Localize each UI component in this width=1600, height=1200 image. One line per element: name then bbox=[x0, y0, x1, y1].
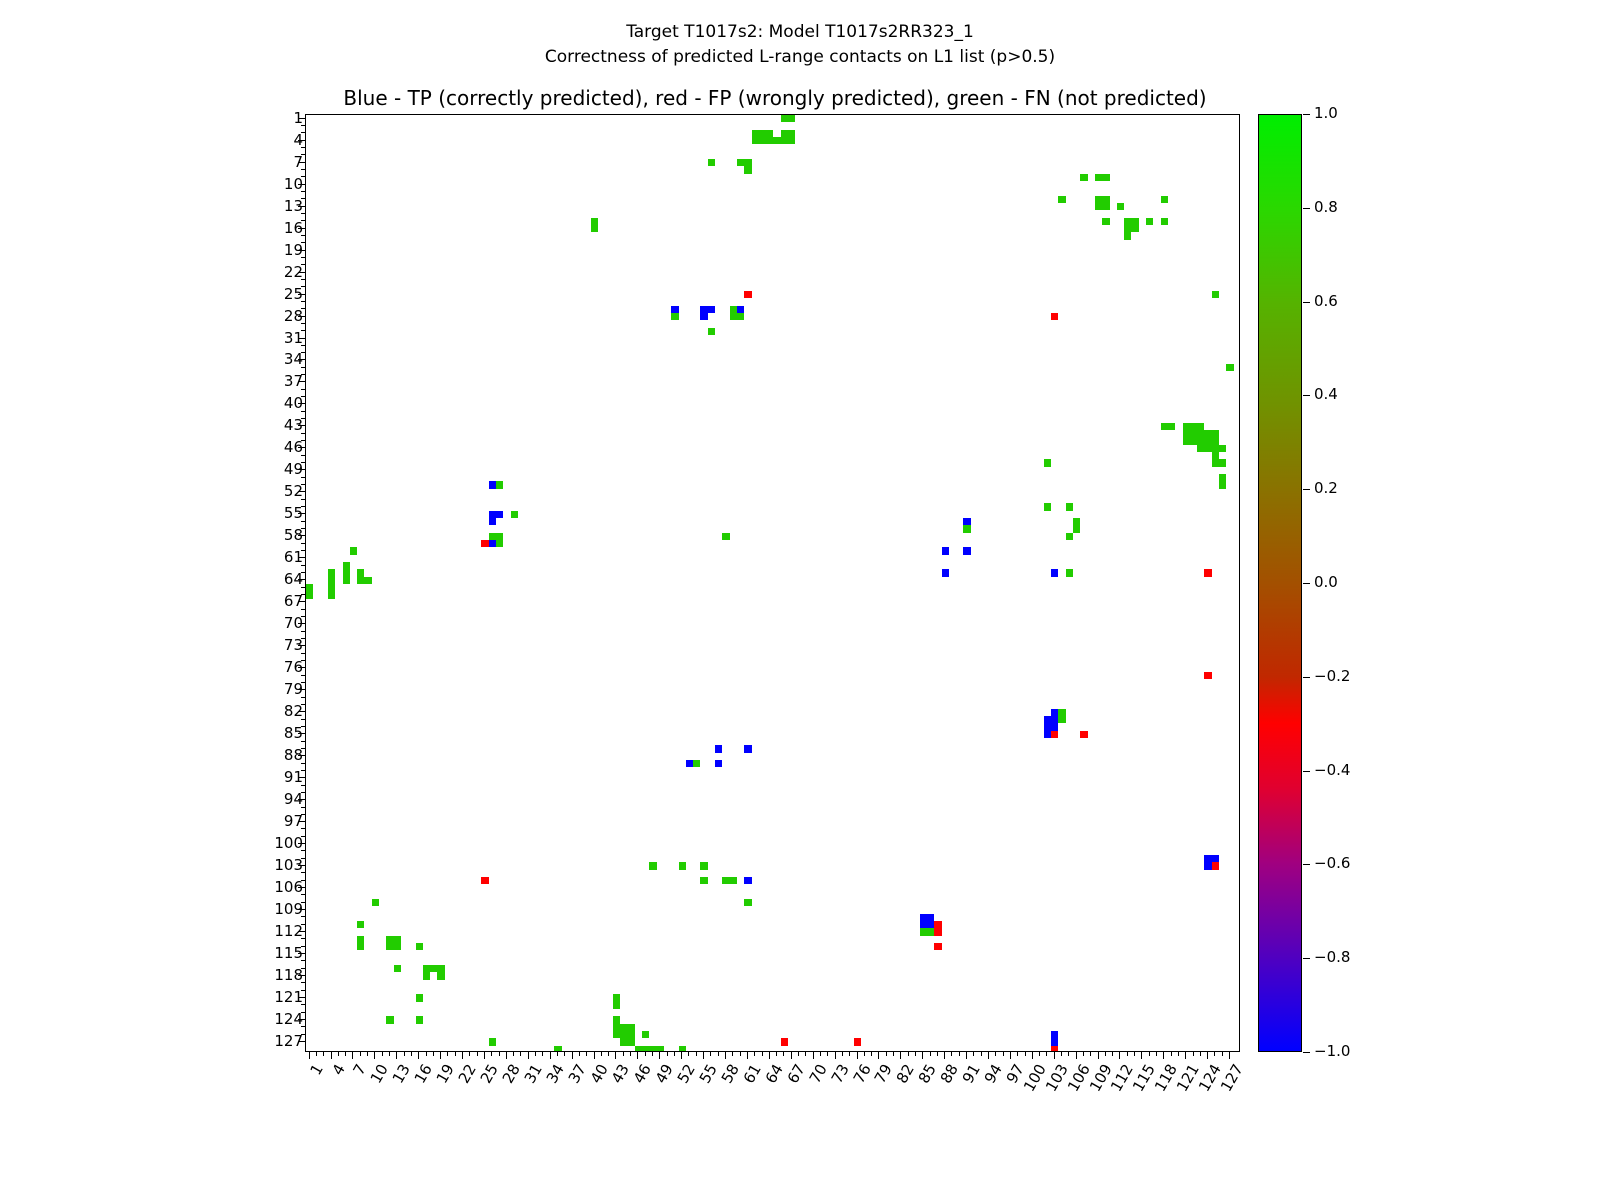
contact-cell-red bbox=[1051, 313, 1058, 320]
contact-cell-green bbox=[1183, 430, 1220, 445]
colorbar-tick-label: 0.2 bbox=[1314, 481, 1338, 496]
contact-cell-green bbox=[1161, 218, 1168, 225]
y-axis-label: 10 bbox=[284, 177, 303, 192]
y-axis-label: 79 bbox=[284, 682, 303, 697]
y-axis-label: 58 bbox=[284, 528, 303, 543]
x-axis-tick bbox=[1068, 1052, 1069, 1056]
x-axis-tick bbox=[893, 1052, 894, 1056]
x-axis-tick bbox=[1083, 1052, 1084, 1056]
x-axis-tick bbox=[937, 1052, 938, 1056]
colorbar-tick-label: 0.6 bbox=[1314, 294, 1338, 309]
contact-cell-green bbox=[1066, 569, 1073, 576]
colorbar-tick-label: −0.4 bbox=[1314, 763, 1350, 778]
y-axis-label: 1 bbox=[293, 111, 303, 126]
x-axis-tick bbox=[433, 1052, 434, 1056]
colorbar-tick-label: 0.4 bbox=[1314, 387, 1338, 402]
x-axis-tick bbox=[1003, 1052, 1004, 1056]
contact-cell-green bbox=[416, 994, 423, 1001]
contact-cell-green bbox=[1197, 445, 1212, 452]
contact-cell-green bbox=[394, 965, 401, 972]
x-axis-tick bbox=[338, 1052, 339, 1056]
contact-cell-green bbox=[306, 584, 313, 599]
x-axis-tick bbox=[1112, 1052, 1113, 1056]
x-axis-tick bbox=[1098, 1052, 1099, 1059]
x-axis-tick bbox=[411, 1052, 412, 1056]
x-axis-tick bbox=[396, 1052, 397, 1059]
contact-cell-green bbox=[1146, 218, 1153, 225]
contact-cell-green bbox=[1044, 459, 1051, 466]
x-axis-tick bbox=[594, 1052, 595, 1059]
x-axis-tick bbox=[557, 1052, 558, 1056]
x-axis-tick bbox=[1141, 1052, 1142, 1059]
x-axis-tick bbox=[995, 1052, 996, 1056]
colorbar-tick-label: 1.0 bbox=[1314, 106, 1338, 121]
x-axis-tick bbox=[426, 1052, 427, 1056]
contact-cell-green bbox=[920, 928, 935, 935]
contact-cell-blue bbox=[700, 313, 707, 320]
x-axis-tick bbox=[542, 1052, 543, 1056]
x-axis-tick bbox=[769, 1052, 770, 1059]
colorbar-tick bbox=[1303, 1052, 1310, 1053]
x-axis-tick bbox=[491, 1052, 492, 1056]
colorbar-tick-label: 0.8 bbox=[1314, 200, 1338, 215]
x-axis-tick bbox=[908, 1052, 909, 1056]
contact-cell-green bbox=[693, 760, 700, 767]
x-axis-tick bbox=[360, 1052, 361, 1056]
y-axis-label: 106 bbox=[274, 880, 303, 895]
contact-cell-green bbox=[708, 328, 715, 335]
contact-cell-green bbox=[1058, 709, 1065, 724]
contact-cell-red bbox=[1204, 672, 1211, 679]
y-axis-label: 112 bbox=[274, 924, 303, 939]
x-axis-tick bbox=[959, 1052, 960, 1056]
y-axis-label: 88 bbox=[284, 748, 303, 763]
contact-cell-green bbox=[649, 862, 656, 869]
x-axis-tick bbox=[1222, 1052, 1223, 1056]
contact-cell-green bbox=[496, 540, 503, 547]
colorbar-tick bbox=[1303, 583, 1310, 584]
y-axis-label: 4 bbox=[293, 133, 303, 148]
contact-cell-green bbox=[635, 1046, 642, 1052]
contact-cell-green bbox=[328, 569, 335, 584]
contact-cell-green bbox=[679, 862, 686, 869]
contact-cell-green bbox=[1212, 459, 1227, 466]
x-axis-tick bbox=[1025, 1052, 1026, 1056]
x-axis-tick bbox=[477, 1052, 478, 1056]
y-axis-label: 61 bbox=[284, 550, 303, 565]
x-axis-tick bbox=[513, 1052, 514, 1056]
contact-cell-green bbox=[700, 877, 707, 884]
contact-cell-blue bbox=[1044, 731, 1051, 738]
contact-cell-green bbox=[700, 862, 707, 869]
x-axis-tick bbox=[1134, 1052, 1135, 1056]
contact-cell-green bbox=[1066, 503, 1073, 510]
contact-cell-green bbox=[1044, 503, 1051, 510]
contact-cell-blue bbox=[715, 760, 722, 767]
x-axis-tick bbox=[915, 1052, 916, 1056]
y-axis-label: 34 bbox=[284, 352, 303, 367]
contact-cell-green bbox=[1161, 423, 1176, 430]
x-axis-tick bbox=[608, 1052, 609, 1056]
y-axis-label: 22 bbox=[284, 265, 303, 280]
x-axis-tick bbox=[499, 1052, 500, 1056]
x-axis-tick bbox=[688, 1052, 689, 1056]
y-axis-label: 43 bbox=[284, 418, 303, 433]
contact-cell-green bbox=[657, 1046, 664, 1052]
y-axis-label: 31 bbox=[284, 331, 303, 346]
x-axis-tick bbox=[951, 1052, 952, 1056]
contact-cell-green bbox=[1161, 196, 1168, 203]
x-axis-tick bbox=[345, 1052, 346, 1056]
x-axis-tick bbox=[367, 1052, 368, 1056]
x-axis-tick bbox=[550, 1052, 551, 1059]
contact-cell-green bbox=[1212, 291, 1219, 298]
x-axis-tick bbox=[1061, 1052, 1062, 1056]
x-axis-tick bbox=[930, 1052, 931, 1056]
contact-cell-green bbox=[386, 1016, 393, 1023]
contact-cell-green bbox=[679, 1046, 686, 1052]
y-axis-label: 13 bbox=[284, 199, 303, 214]
x-axis-tick bbox=[418, 1052, 419, 1059]
x-axis-tick bbox=[447, 1052, 448, 1056]
colorbar-tick-label: −1.0 bbox=[1314, 1044, 1350, 1059]
contact-cell-green bbox=[1226, 364, 1233, 371]
x-axis-tick bbox=[520, 1052, 521, 1056]
colorbar-tick bbox=[1303, 864, 1310, 865]
contact-cell-blue bbox=[1051, 569, 1058, 576]
x-axis-tick bbox=[535, 1052, 536, 1056]
x-axis-tick bbox=[374, 1052, 375, 1059]
contact-cell-green bbox=[357, 577, 372, 584]
contact-cell-green bbox=[613, 1016, 620, 1023]
colorbar-tick bbox=[1303, 489, 1310, 490]
contact-cell-green bbox=[642, 1031, 649, 1038]
y-axis-label: 94 bbox=[284, 792, 303, 807]
x-axis-tick bbox=[1229, 1052, 1230, 1059]
x-axis-tick bbox=[776, 1052, 777, 1056]
contact-cell-green bbox=[1212, 452, 1219, 459]
contact-cell-blue bbox=[489, 540, 496, 547]
x-axis-tick bbox=[659, 1052, 660, 1059]
x-axis-tick bbox=[1119, 1052, 1120, 1059]
figure-title-line-2: Correctness of predicted L-range contact… bbox=[0, 45, 1600, 70]
x-axis-tick bbox=[389, 1052, 390, 1056]
x-axis-tick bbox=[710, 1052, 711, 1056]
contact-cell-green bbox=[737, 159, 752, 166]
contact-cell-green bbox=[744, 899, 751, 906]
contact-cell-green bbox=[1117, 203, 1124, 210]
x-axis-tick bbox=[922, 1052, 923, 1059]
contact-cell-green bbox=[1183, 423, 1205, 430]
contact-cell-red bbox=[481, 877, 488, 884]
y-axis-label: 109 bbox=[274, 902, 303, 917]
contact-cell-green bbox=[372, 899, 379, 906]
contact-cell-green bbox=[1124, 232, 1131, 239]
x-axis-tick bbox=[681, 1052, 682, 1059]
x-axis-tick bbox=[1054, 1052, 1055, 1059]
x-axis-tick bbox=[469, 1052, 470, 1056]
y-axis-label: 85 bbox=[284, 726, 303, 741]
colorbar-tick bbox=[1303, 395, 1310, 396]
y-axis-label: 118 bbox=[274, 968, 303, 983]
contact-cell-green bbox=[416, 1016, 423, 1023]
y-axis-label: 7 bbox=[293, 155, 303, 170]
x-axis-tick bbox=[630, 1052, 631, 1056]
contact-map-plot[interactable] bbox=[305, 114, 1240, 1052]
x-axis-tick bbox=[637, 1052, 638, 1059]
x-axis-tick bbox=[864, 1052, 865, 1056]
x-axis-tick bbox=[484, 1052, 485, 1059]
colorbar-tick bbox=[1303, 302, 1310, 303]
x-axis-tick bbox=[1039, 1052, 1040, 1056]
colorbar-gradient bbox=[1258, 114, 1302, 1052]
x-axis-tick bbox=[981, 1052, 982, 1056]
colorbar-tick-label: −0.6 bbox=[1314, 856, 1350, 871]
y-axis-label: 82 bbox=[284, 704, 303, 719]
contact-cell-green bbox=[744, 166, 751, 173]
contact-cell-blue bbox=[920, 914, 935, 921]
x-axis-tick bbox=[404, 1052, 405, 1056]
x-axis-tick bbox=[791, 1052, 792, 1059]
contact-cell-green bbox=[708, 159, 715, 166]
contact-cell-green bbox=[752, 130, 774, 137]
x-axis-tick bbox=[674, 1052, 675, 1056]
x-axis-tick bbox=[528, 1052, 529, 1059]
contact-cell-green bbox=[489, 1038, 496, 1045]
contact-cell-blue bbox=[942, 547, 949, 554]
x-axis-tick bbox=[309, 1052, 310, 1059]
x-axis-tick bbox=[1076, 1052, 1077, 1059]
x-axis-tick bbox=[783, 1052, 784, 1056]
x-axis-tick bbox=[323, 1052, 324, 1056]
x-axis-tick bbox=[1178, 1052, 1179, 1056]
x-axis-tick bbox=[718, 1052, 719, 1056]
contact-cell-blue bbox=[489, 481, 496, 488]
x-axis-tick bbox=[382, 1052, 383, 1056]
y-axis-label: 67 bbox=[284, 594, 303, 609]
x-axis-tick bbox=[849, 1052, 850, 1056]
x-axis-tick bbox=[1193, 1052, 1194, 1056]
x-axis-tick bbox=[1207, 1052, 1208, 1059]
x-axis-tick bbox=[1010, 1052, 1011, 1059]
contact-cell-blue bbox=[715, 745, 722, 752]
contact-cells-layer bbox=[306, 115, 1239, 1051]
y-axis-label: 19 bbox=[284, 243, 303, 258]
contact-cell-blue bbox=[744, 877, 751, 884]
y-axis-label: 16 bbox=[284, 221, 303, 236]
contact-cell-green bbox=[386, 936, 401, 951]
y-axis-label: 52 bbox=[284, 484, 303, 499]
contact-cell-blue bbox=[744, 745, 751, 752]
colorbar-tick bbox=[1303, 958, 1310, 959]
y-axis-label: 121 bbox=[274, 990, 303, 1005]
contact-cell-blue bbox=[686, 760, 693, 767]
x-axis-tick bbox=[455, 1052, 456, 1056]
contact-cell-blue bbox=[1051, 709, 1058, 716]
x-axis-tick bbox=[316, 1052, 317, 1056]
contact-cell-green bbox=[722, 877, 737, 884]
x-axis-tick bbox=[842, 1052, 843, 1056]
y-axis-label: 70 bbox=[284, 616, 303, 631]
x-axis-tick bbox=[586, 1052, 587, 1056]
x-axis-tick bbox=[1163, 1052, 1164, 1059]
x-axis-tick bbox=[762, 1052, 763, 1056]
x-axis-tick bbox=[740, 1052, 741, 1056]
contact-cell-blue bbox=[737, 306, 744, 313]
contact-cell-green bbox=[1219, 474, 1226, 489]
x-axis-tick bbox=[440, 1052, 441, 1059]
y-axis-label: 76 bbox=[284, 660, 303, 675]
x-axis-tick bbox=[1214, 1052, 1215, 1056]
y-axis-label: 64 bbox=[284, 572, 303, 587]
contact-cell-blue bbox=[1051, 1031, 1058, 1046]
contact-cell-green bbox=[730, 306, 737, 321]
contact-cell-green bbox=[496, 481, 503, 488]
contact-cell-red bbox=[1212, 862, 1219, 869]
y-axis-label: 46 bbox=[284, 440, 303, 455]
colorbar-tick bbox=[1303, 677, 1310, 678]
contact-cell-green bbox=[1066, 533, 1073, 540]
contact-cell-blue bbox=[1044, 716, 1059, 731]
contact-cell-red bbox=[934, 921, 941, 928]
x-axis-tick bbox=[645, 1052, 646, 1056]
x-axis-tick bbox=[857, 1052, 858, 1059]
x-axis-tick bbox=[878, 1052, 879, 1059]
contact-cell-green bbox=[1080, 174, 1087, 181]
y-axis-label: 91 bbox=[284, 770, 303, 785]
y-axis-label: 124 bbox=[274, 1012, 303, 1027]
colorbar-tick bbox=[1303, 771, 1310, 772]
contact-cell-green bbox=[1073, 518, 1080, 533]
x-axis-tick bbox=[754, 1052, 755, 1056]
x-axis-tick bbox=[1171, 1052, 1172, 1056]
x-axis-tick bbox=[615, 1052, 616, 1059]
contact-cell-green bbox=[343, 562, 350, 584]
x-axis-tick bbox=[988, 1052, 989, 1059]
x-axis-tick bbox=[827, 1052, 828, 1056]
x-axis-tick bbox=[820, 1052, 821, 1056]
contact-cell-green bbox=[350, 547, 357, 554]
x-axis-tick bbox=[506, 1052, 507, 1059]
x-axis-tick bbox=[1105, 1052, 1106, 1056]
x-axis-tick bbox=[1127, 1052, 1128, 1056]
x-axis-tick bbox=[1090, 1052, 1091, 1056]
x-axis-tick bbox=[1200, 1052, 1201, 1056]
contact-cell-green bbox=[613, 1024, 635, 1039]
y-axis-label: 49 bbox=[284, 462, 303, 477]
contact-cell-red bbox=[781, 1038, 788, 1045]
x-axis-tick bbox=[331, 1052, 332, 1059]
contact-cell-green bbox=[613, 994, 620, 1009]
contact-cell-green bbox=[1212, 445, 1227, 452]
x-axis-tick bbox=[798, 1052, 799, 1056]
contact-cell-green bbox=[1095, 196, 1110, 211]
x-axis-tick bbox=[696, 1052, 697, 1056]
contact-cell-blue bbox=[1204, 862, 1211, 869]
x-axis-tick bbox=[732, 1052, 733, 1056]
x-axis-tick bbox=[805, 1052, 806, 1056]
contact-cell-blue bbox=[1204, 855, 1219, 862]
x-axis-tick bbox=[835, 1052, 836, 1059]
contact-cell-red bbox=[1051, 731, 1058, 738]
contact-cell-green bbox=[328, 584, 335, 599]
x-axis-tick bbox=[725, 1052, 726, 1059]
contact-cell-green bbox=[437, 972, 444, 979]
contact-cell-green bbox=[722, 533, 729, 540]
contact-cell-green bbox=[489, 533, 504, 540]
contact-cell-green bbox=[357, 569, 364, 576]
x-axis-tick bbox=[667, 1052, 668, 1056]
contact-cell-green bbox=[752, 137, 789, 144]
contact-cell-green bbox=[511, 511, 518, 518]
y-axis-label: 37 bbox=[284, 374, 303, 389]
contact-cell-green bbox=[1124, 218, 1139, 233]
x-axis-tick bbox=[601, 1052, 602, 1056]
colorbar-tick-label: −0.8 bbox=[1314, 950, 1350, 965]
contact-cell-green bbox=[423, 972, 430, 979]
contact-cell-green bbox=[357, 936, 364, 951]
contact-cell-green bbox=[1102, 218, 1109, 225]
contact-cell-blue bbox=[489, 511, 504, 518]
contact-cell-red bbox=[934, 943, 941, 950]
y-axis-label: 97 bbox=[284, 814, 303, 829]
y-axis-label: 73 bbox=[284, 638, 303, 653]
x-axis-tick bbox=[944, 1052, 945, 1059]
contact-cell-blue bbox=[963, 547, 970, 554]
contact-cell-green bbox=[671, 313, 678, 320]
x-axis-tick bbox=[564, 1052, 565, 1056]
x-axis-tick bbox=[966, 1052, 967, 1059]
contact-cell-blue bbox=[671, 306, 678, 313]
contact-cell-red bbox=[934, 928, 941, 935]
colorbar-tick-label: 0.0 bbox=[1314, 575, 1338, 590]
contact-cell-green bbox=[620, 1038, 635, 1045]
contact-cell-red bbox=[1204, 569, 1211, 576]
contact-cell-green bbox=[963, 525, 970, 532]
contact-cell-green bbox=[423, 965, 445, 972]
x-axis-tick bbox=[1156, 1052, 1157, 1056]
y-axis-label: 25 bbox=[284, 287, 303, 302]
contact-cell-green bbox=[737, 313, 744, 320]
contact-cell-red bbox=[854, 1038, 861, 1045]
x-axis-tick bbox=[886, 1052, 887, 1056]
y-axis-label: 103 bbox=[274, 858, 303, 873]
y-axis-label: 115 bbox=[274, 946, 303, 961]
x-axis-tick bbox=[1046, 1052, 1047, 1056]
x-axis-tick bbox=[462, 1052, 463, 1059]
x-axis-tick bbox=[572, 1052, 573, 1059]
figure-title: Target T1017s2: Model T1017s2RR323_1 Cor… bbox=[0, 20, 1600, 70]
contact-cell-blue bbox=[963, 518, 970, 525]
axes-title-legend: Blue - TP (correctly predicted), red - F… bbox=[305, 86, 1245, 110]
y-axis-label: 55 bbox=[284, 506, 303, 521]
x-axis-tick bbox=[1017, 1052, 1018, 1056]
x-axis-tick bbox=[813, 1052, 814, 1059]
x-axis-tick bbox=[579, 1052, 580, 1056]
contact-cell-blue bbox=[700, 306, 715, 313]
x-axis-tick bbox=[623, 1052, 624, 1056]
x-axis-tick bbox=[900, 1052, 901, 1059]
contact-cell-blue bbox=[489, 518, 496, 525]
x-axis-tick bbox=[747, 1052, 748, 1059]
colorbar-tick bbox=[1303, 208, 1310, 209]
contact-cell-green bbox=[416, 943, 423, 950]
contact-cell-red bbox=[481, 540, 488, 547]
figure-title-line-1: Target T1017s2: Model T1017s2RR323_1 bbox=[0, 20, 1600, 45]
contact-cell-green bbox=[357, 921, 364, 928]
contact-cell-red bbox=[744, 291, 751, 298]
x-axis-tick bbox=[871, 1052, 872, 1056]
